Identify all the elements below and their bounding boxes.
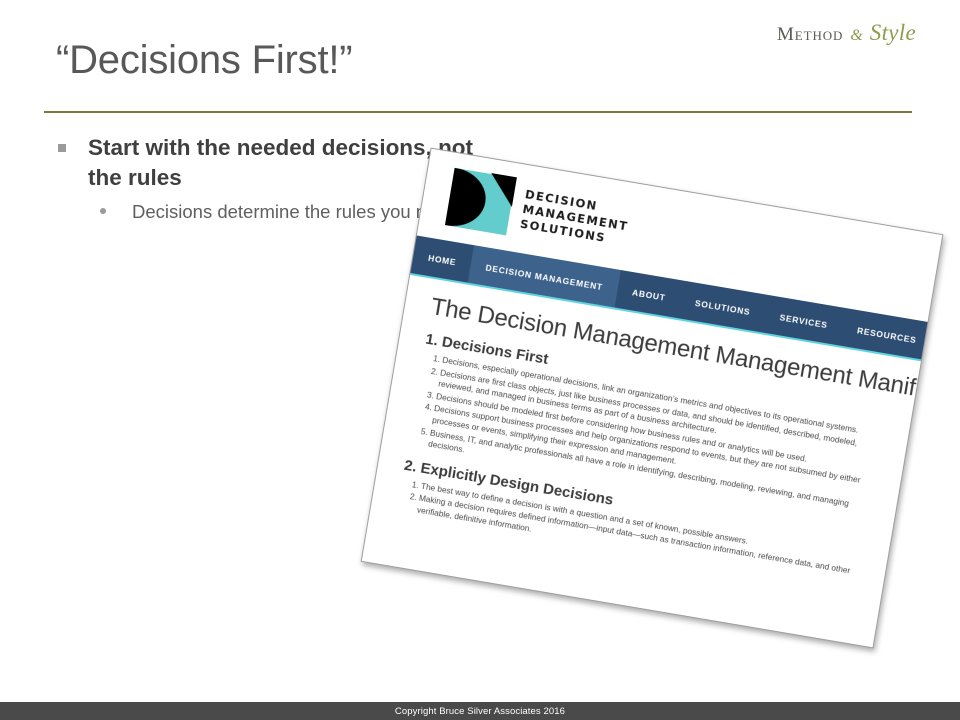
- round-bullet-icon: [100, 208, 106, 214]
- title-divider: [44, 111, 912, 113]
- method-and-style-logo: Method & Style: [777, 20, 916, 46]
- screenshot-frame: DECISION MANAGEMENT SOLUTIONS HOME DECIS…: [361, 148, 944, 649]
- slide-canvas: Method & Style “Decisions First!” Start …: [0, 0, 960, 720]
- dms-logo-blob: [445, 168, 490, 231]
- bullet-level2-text: Decisions determine the rules you need: [132, 201, 457, 222]
- brand-method-text: Method: [777, 24, 843, 46]
- dms-logo-notch: [486, 173, 517, 207]
- brand-ampersand: &: [850, 27, 862, 45]
- bullet-list: Start with the needed decisions, not the…: [44, 133, 474, 225]
- slide-footer: Copyright Bruce Silver Associates 2016: [0, 702, 960, 720]
- copyright-text: Copyright Bruce Silver Associates 2016: [395, 706, 565, 717]
- bullet-level1-text: Start with the needed decisions, not the…: [88, 135, 473, 190]
- bullet-level1: Start with the needed decisions, not the…: [44, 133, 474, 193]
- bullet-level2: Decisions determine the rules you need: [44, 199, 474, 225]
- dms-logo-mark-icon: [445, 168, 516, 236]
- square-bullet-icon: [58, 144, 66, 152]
- brand-style-text: Style: [870, 20, 916, 46]
- dms-logo-wordmark: DECISION MANAGEMENT SOLUTIONS: [519, 187, 632, 249]
- browser-screenshot-image: DECISION MANAGEMENT SOLUTIONS HOME DECIS…: [361, 148, 944, 649]
- decision-management-solutions-logo: DECISION MANAGEMENT SOLUTIONS: [445, 168, 633, 255]
- page-title: “Decisions First!”: [56, 38, 352, 83]
